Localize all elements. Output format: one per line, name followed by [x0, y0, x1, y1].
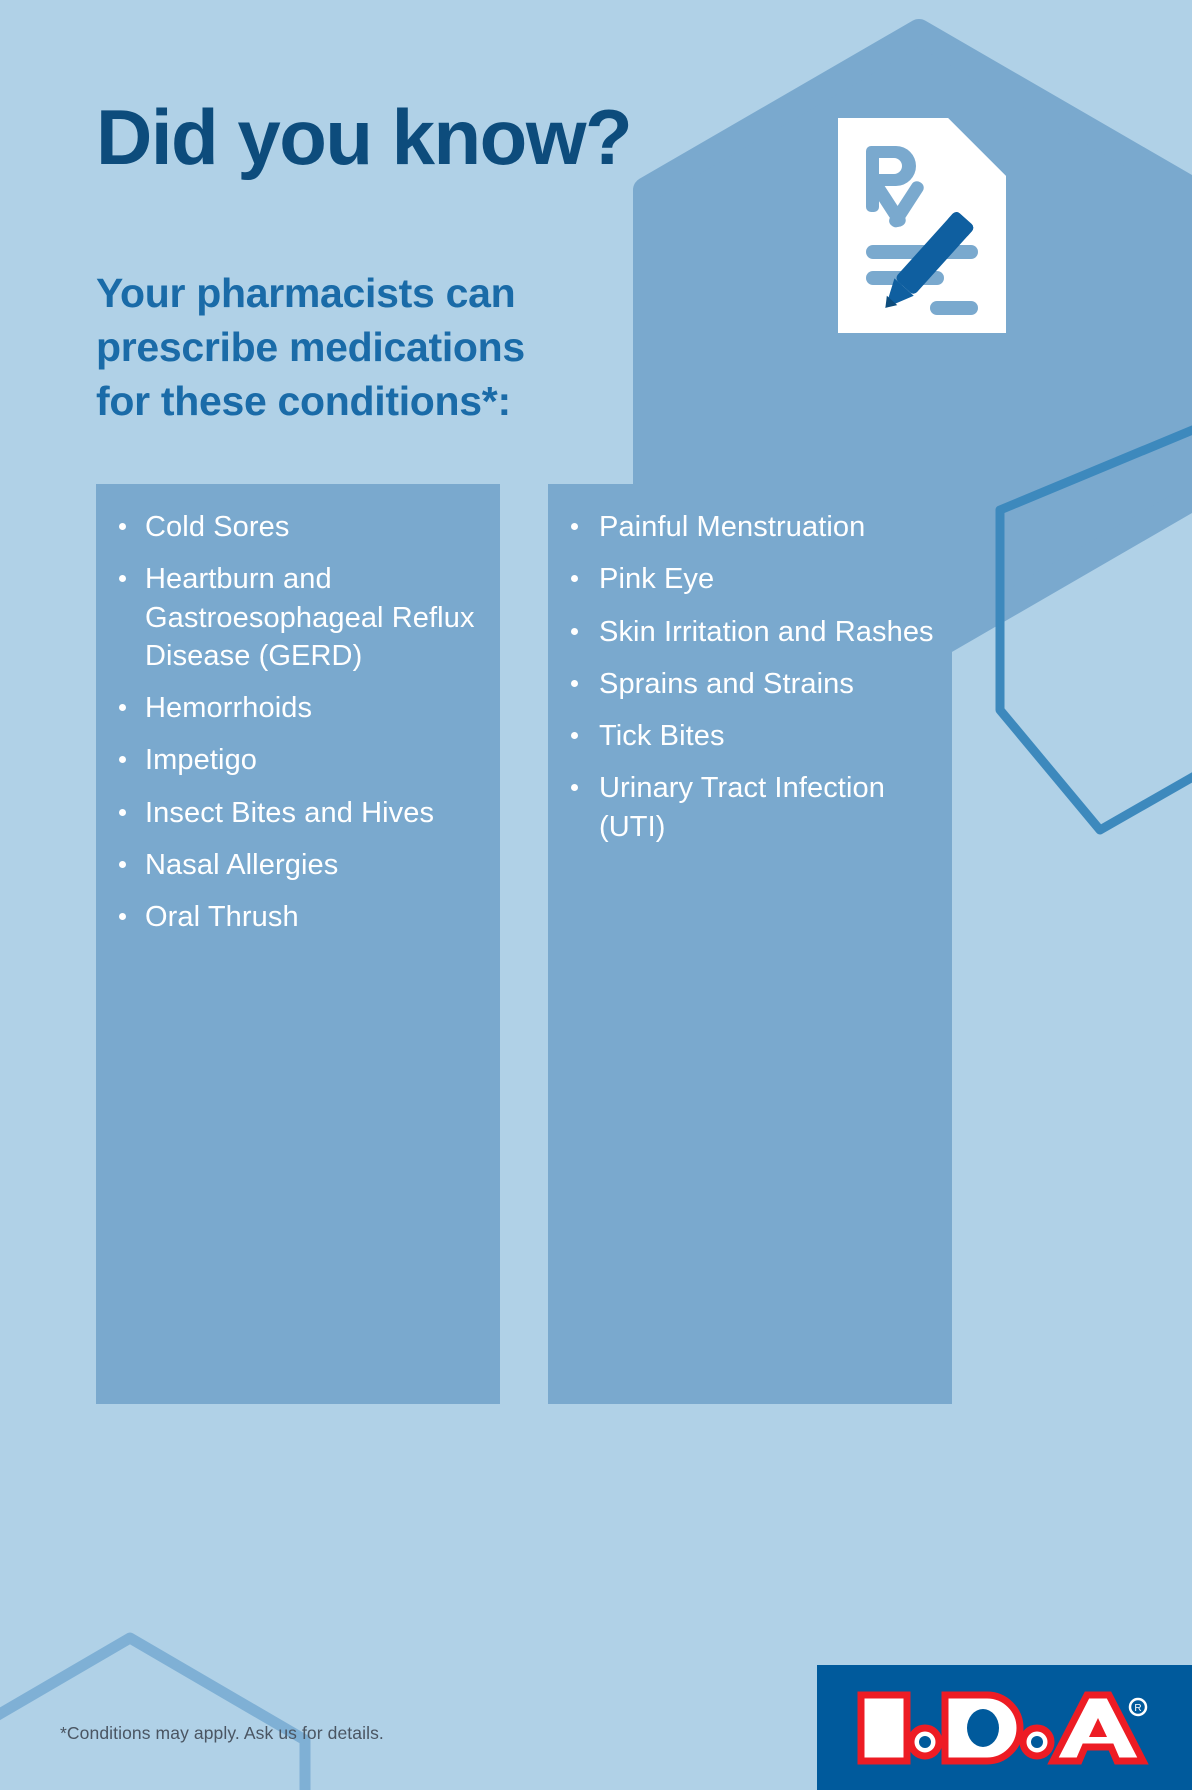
poster-header: Did you know? Your pharmacists can presc… — [96, 98, 756, 428]
list-item: Heartburn and Gastroesophageal Reflux Di… — [112, 560, 484, 675]
hexagon-outline-bottom-left — [0, 1638, 305, 1790]
bullet-icon — [119, 575, 126, 582]
condition-label: Skin Irritation and Rashes — [599, 616, 934, 648]
bullet-icon — [571, 732, 578, 739]
list-item: Insect Bites and Hives — [112, 794, 484, 832]
document-line-2 — [866, 271, 944, 285]
conditions-list-left: Cold Sores Heartburn and Gastroesophagea… — [112, 508, 484, 936]
footnote: *Conditions may apply. Ask us for detail… — [60, 1723, 384, 1744]
document-line-1 — [866, 245, 978, 259]
conditions-panel-left: Cold Sores Heartburn and Gastroesophagea… — [96, 484, 500, 1404]
list-item: Hemorrhoids — [112, 689, 484, 727]
bullet-icon — [119, 913, 126, 920]
bullet-icon — [119, 704, 126, 711]
conditions-panel-right: Painful Menstruation Pink Eye Skin Irrit… — [548, 484, 952, 1404]
subtitle-line-2: prescribe medications — [96, 320, 756, 374]
condition-label: Urinary Tract Infection (UTI) — [599, 772, 885, 842]
page-title: Did you know? — [96, 98, 756, 176]
list-item: Pink Eye — [564, 560, 936, 598]
condition-label: Sprains and Strains — [599, 668, 854, 700]
bullet-icon — [119, 809, 126, 816]
list-item: Impetigo — [112, 741, 484, 779]
page-subtitle: Your pharmacists can prescribe medicatio… — [96, 176, 756, 428]
list-item: Skin Irritation and Rashes — [564, 613, 936, 651]
ida-logo: R — [817, 1665, 1192, 1790]
bullet-icon — [571, 575, 578, 582]
condition-label: Hemorrhoids — [145, 692, 312, 724]
list-item: Nasal Allergies — [112, 846, 484, 884]
condition-label: Tick Bites — [599, 720, 725, 752]
condition-label: Pink Eye — [599, 563, 714, 595]
condition-label: Impetigo — [145, 744, 257, 776]
condition-label: Oral Thrush — [145, 901, 299, 933]
bullet-icon — [119, 756, 126, 763]
conditions-panels: Cold Sores Heartburn and Gastroesophagea… — [96, 484, 1096, 1404]
bullet-icon — [119, 861, 126, 868]
bullet-icon — [119, 523, 126, 530]
bullet-icon — [571, 523, 578, 530]
condition-label: Painful Menstruation — [599, 511, 865, 543]
pencil-icon — [876, 210, 976, 317]
list-item: Tick Bites — [564, 717, 936, 755]
list-item: Cold Sores — [112, 508, 484, 546]
bullet-icon — [571, 784, 578, 791]
condition-label: Nasal Allergies — [145, 849, 338, 881]
subtitle-line-3: for these conditions*: — [96, 374, 756, 428]
signature-line — [930, 301, 978, 315]
list-item: Painful Menstruation — [564, 508, 936, 546]
list-item: Sprains and Strains — [564, 665, 936, 703]
rx-symbol — [866, 146, 926, 230]
list-item: Urinary Tract Infection (UTI) — [564, 769, 936, 846]
conditions-list-right: Painful Menstruation Pink Eye Skin Irrit… — [564, 508, 936, 846]
ida-logo-mark: R — [855, 1687, 1155, 1769]
subtitle-line-1: Your pharmacists can — [96, 266, 756, 320]
svg-text:R: R — [1134, 1703, 1141, 1714]
list-item: Oral Thrush — [112, 898, 484, 936]
condition-label: Heartburn and Gastroesophageal Reflux Di… — [145, 563, 475, 672]
bullet-icon — [571, 680, 578, 687]
condition-label: Cold Sores — [145, 511, 289, 543]
bullet-icon — [571, 628, 578, 635]
document-page — [838, 118, 1006, 333]
document-fold — [948, 118, 1006, 176]
condition-label: Insect Bites and Hives — [145, 797, 434, 829]
